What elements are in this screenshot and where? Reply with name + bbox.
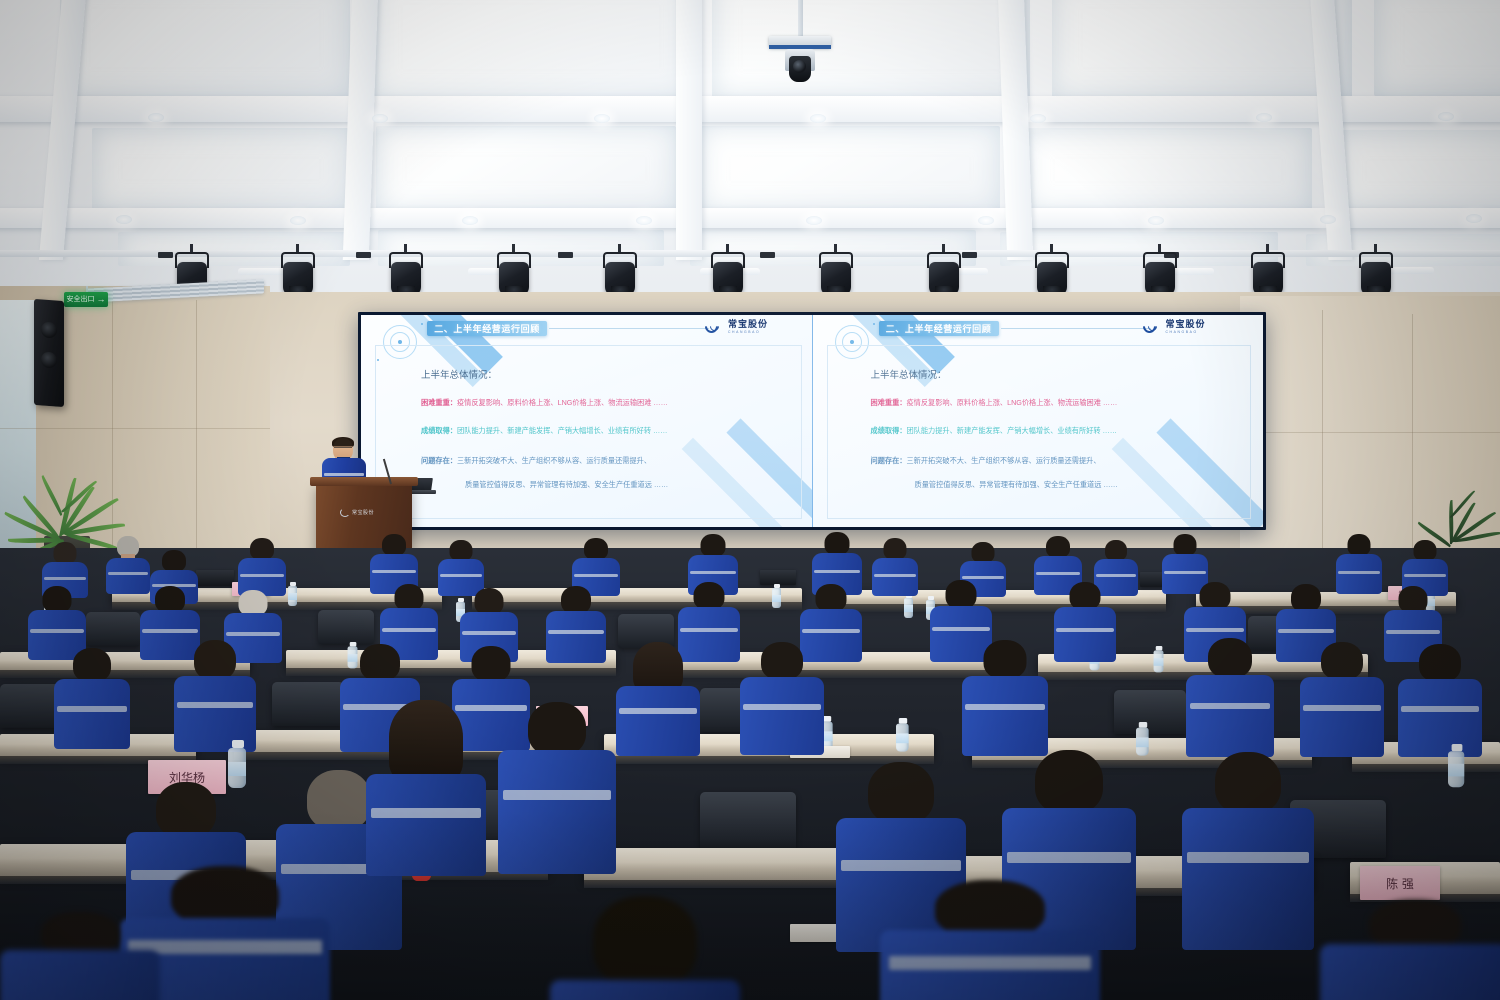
audience-member: [740, 642, 824, 750]
audience-member: [1336, 534, 1382, 592]
led-video-wall[interactable]: 二、上半年经营运行回顾 常宝股份 CHANGBAO 上半年总体情况： 困难重重：…: [358, 312, 1266, 530]
slide-row-achievements: 成绩取得：团队能力提升、新建产能发挥、产销大幅增长、业绩有所好转 ……: [871, 427, 1117, 434]
chair-back: [1114, 690, 1186, 734]
track-junction-box: [962, 252, 977, 258]
presenter-reflective-stripe: [324, 473, 364, 476]
slide-row-text: 疫情反复影响、原料价格上涨、LNG价格上涨、物流运输困难 ……: [457, 398, 668, 407]
audience-member: [872, 538, 918, 592]
audience-member: [1054, 582, 1116, 660]
name-card: 陈 强: [1360, 866, 1440, 900]
chair-back: [318, 610, 374, 644]
slide-row-label: 困难重重：: [871, 398, 907, 407]
audience-member-long-hair: [616, 642, 700, 750]
podium-logo-text: 常宝股份: [352, 509, 374, 516]
recessed-downlight: [1030, 114, 1046, 123]
chair-back: [700, 792, 796, 850]
recessed-downlight: [1148, 216, 1164, 225]
slide-deco-dot: [398, 340, 402, 344]
foreground-audience-member: [0, 912, 160, 1000]
slide-row-difficulties: 困难重重：疫情反复影响、原料价格上涨、LNG价格上涨、物流运输困难 ……: [421, 399, 668, 406]
slide-panel-left: 二、上半年经营运行回顾 常宝股份 CHANGBAO 上半年总体情况： 困难重重：…: [361, 315, 812, 527]
ceiling-coffer: [1374, 0, 1500, 96]
desk-row: [472, 588, 802, 604]
foreground-audience-member: [550, 896, 740, 1000]
chair-back: [272, 682, 344, 726]
slide-title-rule: [549, 328, 709, 329]
audience-member: [54, 648, 130, 746]
slide-row-label: 成绩取得：: [871, 426, 907, 435]
recessed-downlight: [1466, 214, 1482, 223]
slide-row-text: 三新开拓突破不大、生产组织不够从容、运行质量还需提升、: [906, 456, 1100, 465]
recessed-downlight: [1438, 112, 1454, 121]
slide-row-problems-2: 质量管控值得反思、异常管理有待加强、安全生产任重道远 ……: [465, 481, 668, 488]
track-junction-box: [356, 252, 371, 258]
ceiling-coffer: [60, 0, 350, 98]
slide-deco-dot: [873, 323, 875, 325]
track-junction-box: [558, 252, 573, 258]
ceiling-coffer: [372, 0, 690, 100]
audience-member: [572, 538, 620, 592]
presenter-glasses: [334, 447, 352, 451]
company-logo-cn: 常宝股份: [728, 320, 768, 329]
c-swoosh-icon: [705, 319, 725, 335]
slide-row-problems-1: 问题存在：三新开拓突破不大、生产组织不够从容、运行质量还需提升、: [421, 457, 651, 464]
c-swoosh-icon: [340, 508, 350, 517]
podium-company-logo: 常宝股份: [340, 506, 388, 519]
recessed-downlight: [1256, 113, 1272, 122]
ceiling-coffer: [92, 128, 350, 210]
audience-member: [812, 532, 862, 592]
led-video-wall-surface: 二、上半年经营运行回顾 常宝股份 CHANGBAO 上半年总体情况： 困难重重：…: [361, 315, 1263, 527]
recessed-downlight: [290, 216, 306, 225]
slide-row-label: 成绩取得：: [421, 426, 457, 435]
slide-row-text: 团队能力提升、新建产能发挥、产销大幅增长、业绩有所好转 ……: [457, 426, 667, 435]
ceiling-coffer: [1336, 130, 1500, 212]
company-logo-cn: 常宝股份: [1166, 320, 1206, 329]
slide-panel-right: 二、上半年经营运行回顾 常宝股份 CHANGBAO 上半年总体情况： 困难重重：…: [812, 315, 1264, 527]
audience-member: [962, 640, 1048, 752]
ceiling-coffer: [376, 126, 676, 212]
recessed-downlight: [1320, 215, 1336, 224]
slide-section-heading: 上半年总体情况：: [871, 371, 947, 381]
ceiling-coffer: [712, 0, 1030, 100]
ceiling-coffer: [1024, 128, 1312, 212]
slide-row-problems-1: 问题存在：三新开拓突破不大、生产组织不够从容、运行质量还需提升、: [871, 457, 1101, 464]
slide-row-text: 质量管控值得反思、异常管理有待加强、安全生产任重道远 ……: [915, 480, 1118, 489]
company-logo: 常宝股份 CHANGBAO: [705, 319, 768, 335]
audience-member: [1300, 642, 1384, 752]
slide-row-label: 问题存在：: [421, 456, 457, 465]
company-logo: 常宝股份 CHANGBAO: [1143, 319, 1206, 335]
recessed-downlight: [978, 216, 994, 225]
foreground-audience-member: [1320, 900, 1500, 1000]
company-logo-en: CHANGBAO: [728, 331, 768, 334]
track-junction-box: [158, 252, 173, 258]
chair-back: [86, 612, 140, 646]
recessed-downlight: [594, 114, 610, 123]
audience-member: [174, 640, 256, 746]
ceiling-coffer: [1052, 0, 1352, 98]
audience-member: [498, 702, 616, 870]
wall-panel-seam: [1240, 432, 1500, 433]
audience-member: [106, 536, 150, 592]
audience-member: [238, 538, 286, 592]
slide-title-rule: [1001, 328, 1151, 329]
exit-sign-arrow-icon: →: [97, 295, 106, 304]
recessed-downlight: [116, 215, 132, 224]
exit-sign: 安全出口 →: [64, 292, 108, 307]
slide-row-text: 质量管控值得反思、异常管理有待加强、安全生产任重道远 ……: [465, 480, 668, 489]
wall-panel-seam: [0, 428, 270, 429]
ceiling-beam: [0, 208, 1500, 228]
slide-deco-dot: [850, 340, 854, 344]
slide-deco-dot: [421, 323, 423, 325]
slide-section-heading: 上半年总体情况：: [421, 371, 497, 381]
podium-top-surface: [310, 477, 418, 486]
slide-title-pill: 二、上半年经营运行回顾: [427, 321, 547, 336]
audience-member: [438, 540, 484, 592]
slide-title-pill: 二、上半年经营运行回顾: [879, 321, 999, 336]
ceiling-beam: [676, 0, 702, 260]
ceiling-beam: [0, 96, 1500, 122]
recessed-downlight: [462, 216, 478, 225]
exit-sign-label: 安全出口: [67, 296, 95, 303]
recessed-downlight: [810, 114, 826, 123]
slide-row-difficulties: 困难重重：疫情反复影响、原料价格上涨、LNG价格上涨、物流运输困难 ……: [871, 399, 1118, 406]
name-card-text: 陈 强: [1386, 875, 1414, 892]
wall-speaker: [34, 299, 64, 407]
slide-row-achievements: 成绩取得：团队能力提升、新建产能发挥、产销大幅增长、业绩有所好转 ……: [421, 427, 667, 434]
audience-member: [1186, 638, 1274, 752]
recessed-downlight: [806, 216, 822, 225]
slide-row-text: 三新开拓突破不大、生产组织不够从容、运行质量还需提升、: [457, 456, 651, 465]
company-logo-en: CHANGBAO: [1166, 331, 1206, 334]
c-swoosh-icon: [1143, 319, 1163, 335]
slide-row-problems-2: 质量管控值得反思、异常管理有待加强、安全生产任重道远 ……: [915, 481, 1118, 488]
foreground-audience-member: [880, 880, 1100, 1000]
recessed-downlight: [372, 114, 388, 123]
desk-monitor: [760, 570, 796, 585]
conference-hall-photo: 安全出口 → 二、上半年经营运行回顾: [0, 0, 1500, 1000]
recessed-downlight: [148, 113, 164, 122]
ceiling-coffer: [700, 126, 1000, 212]
audience-member: [1398, 644, 1482, 752]
audience-member: [546, 586, 606, 660]
slide-row-label: 问题存在：: [871, 456, 907, 465]
recessed-downlight: [636, 216, 652, 225]
slide-row-label: 困难重重：: [421, 398, 457, 407]
slide-row-text: 疫情反复影响、原料价格上涨、LNG价格上涨、物流运输困难 ……: [906, 398, 1117, 407]
slide-row-text: 团队能力提升、新建产能发挥、产销大幅增长、业绩有所好转 ……: [906, 426, 1116, 435]
audience-member-long-hair: [366, 700, 486, 870]
audience-member: [1402, 540, 1448, 592]
track-junction-box: [760, 252, 775, 258]
camera-lens-glass: [793, 60, 806, 73]
audience-member: [1182, 752, 1314, 946]
desk-monitor: [196, 570, 234, 586]
camera-mount-pole: [798, 0, 803, 40]
